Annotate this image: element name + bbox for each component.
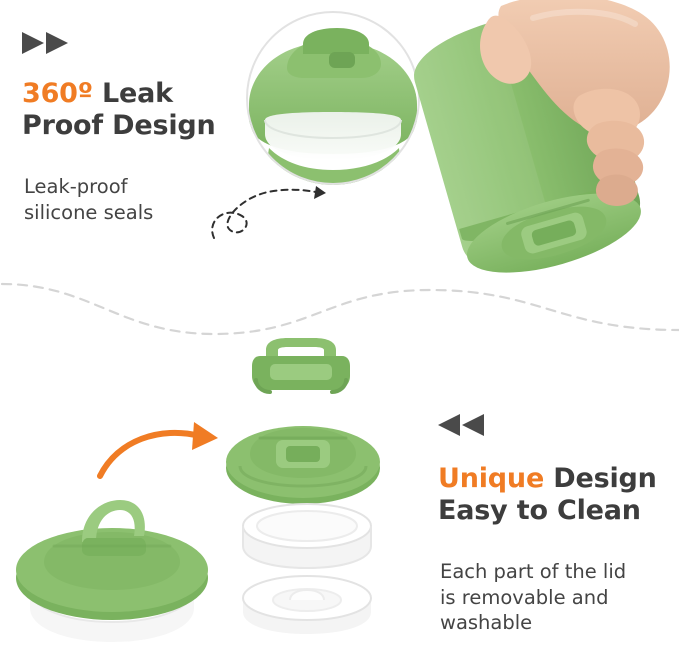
- top-headline-rest: Leak: [93, 78, 173, 109]
- top-headline-accent: 360º: [22, 78, 93, 109]
- top-headline: 360º Leak Proof Design: [22, 78, 262, 142]
- assembled-lid-part: [8, 492, 216, 660]
- top-subtext-line2: silicone seals: [24, 201, 153, 224]
- hand-holding-green-tumbler-photo: [383, 0, 679, 314]
- bottom-subtext-line1: Each part of the lid: [440, 560, 626, 583]
- lid-top-part: [224, 412, 382, 512]
- bottom-subtext-line2: is removable and: [440, 586, 608, 609]
- top-headline-line2: Proof Design: [22, 110, 216, 141]
- top-subtext-line1: Leak-proof: [24, 175, 128, 198]
- bottom-headline-accent: Unique: [438, 463, 544, 494]
- bottom-headline-rest: Design: [544, 463, 657, 494]
- bottom-subtext-line3: washable: [440, 611, 532, 634]
- handle-clip-part: [248, 336, 352, 402]
- silicone-ring-part: [240, 500, 374, 580]
- orange-curved-arrow-icon: [96, 414, 222, 490]
- bottom-headline-line2: Easy to Clean: [438, 495, 641, 526]
- bottom-headline: Unique Design Easy to Clean: [438, 463, 679, 527]
- product-infographic: 360º Leak Proof Design Leak-proof silico…: [0, 0, 679, 664]
- top-marker-icon: [22, 30, 84, 60]
- bottom-subtext: Each part of the lid is removable and wa…: [440, 559, 676, 636]
- silicone-gasket-part: [240, 570, 374, 650]
- bottom-marker-icon: [438, 412, 500, 442]
